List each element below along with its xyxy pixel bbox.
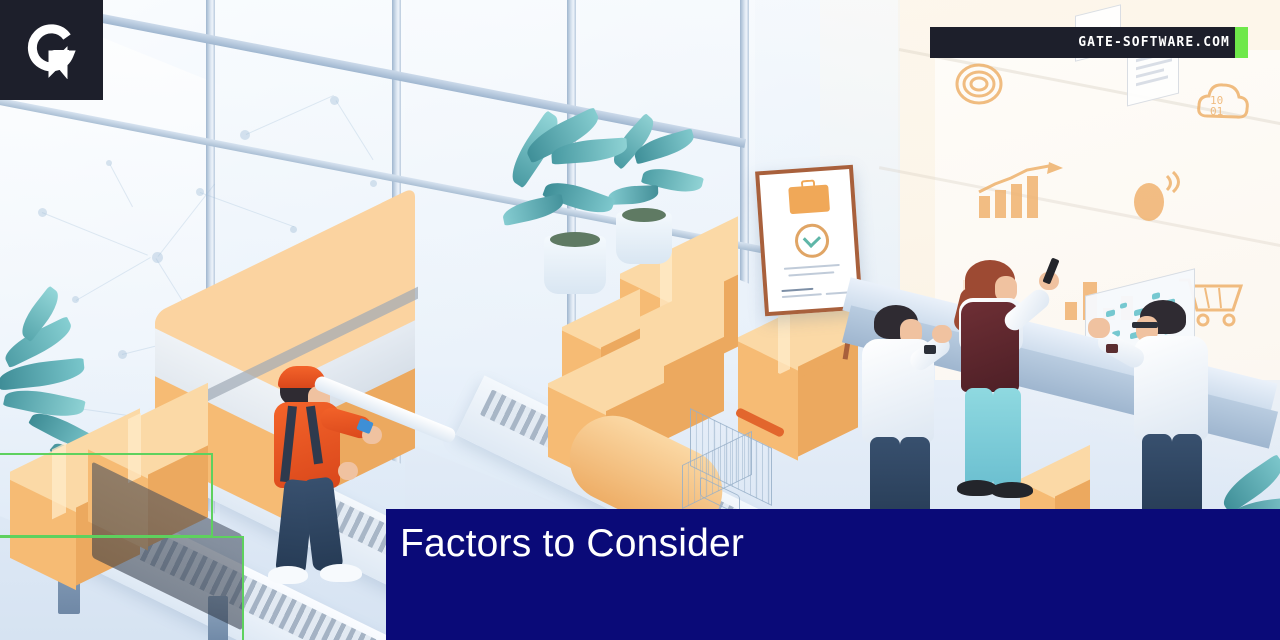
wristwatch [1106, 344, 1118, 353]
svg-text:01: 01 [1210, 105, 1223, 118]
cloud-binary-icon: 10 01 [1195, 76, 1251, 128]
detection-box-1 [0, 453, 213, 537]
slide-canvas: 10 01 [0, 0, 1280, 640]
briefcase-icon-shape [788, 185, 830, 215]
wristwatch [924, 345, 936, 354]
eyeglasses [1132, 322, 1158, 328]
watermark-bar: GATE-SOFTWARE.COM [930, 27, 1248, 58]
wireless-mouse-icon [1129, 168, 1187, 224]
page-title: Factors to Consider [400, 522, 744, 566]
watermark-accent [1235, 27, 1248, 58]
fingerprint-icon [953, 58, 1005, 110]
detection-box-2 [0, 536, 244, 640]
mullion-3 [567, 0, 576, 364]
brand-logo-badge[interactable] [0, 0, 103, 100]
watermark-url: GATE-SOFTWARE.COM [1078, 35, 1248, 50]
g-logo-icon [23, 21, 81, 79]
growth-chart-icon [973, 162, 1069, 224]
